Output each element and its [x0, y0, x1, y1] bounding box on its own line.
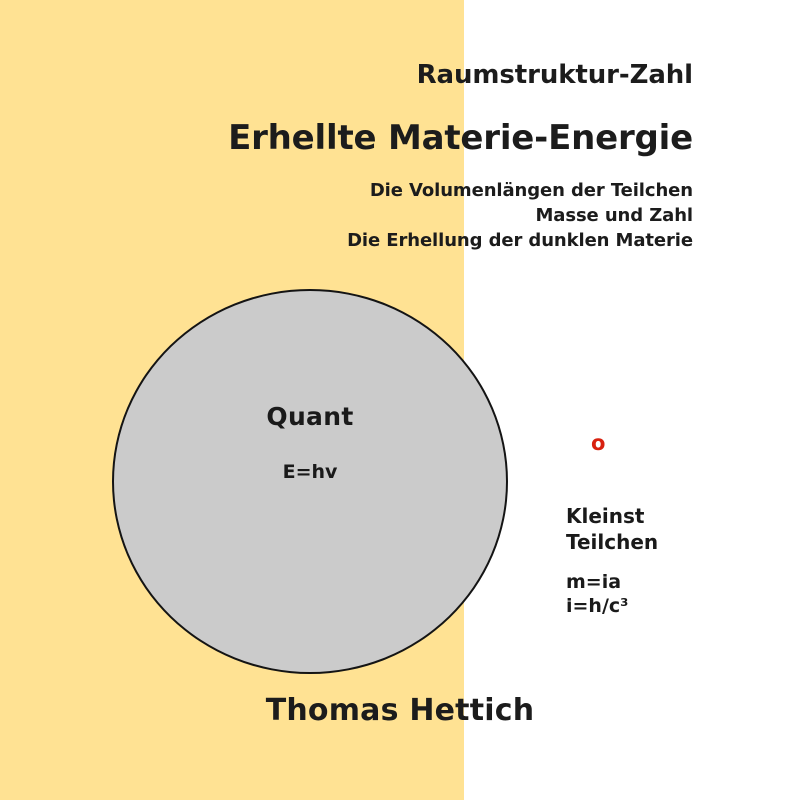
cover-title: Erhellte Materie-Energie [228, 118, 693, 158]
smallest-particle-label-line: Kleinst [566, 503, 658, 529]
cover-subtitle-line: Masse und Zahl [347, 203, 693, 228]
author-name: Thomas Hettich [0, 693, 800, 728]
smallest-particle-marker: o [591, 433, 605, 454]
smallest-particle-formula-line: i=h/c³ [566, 594, 628, 618]
cover-subtitle-line: Die Volumenlängen der Teilchen [347, 178, 693, 203]
book-cover: Quant E=hv Raumstruktur-Zahl Erhellte Ma… [0, 0, 800, 800]
smallest-particle-formula-block: m=ia i=h/c³ [566, 570, 628, 618]
smallest-particle-formula-line: m=ia [566, 570, 628, 594]
cover-subtitle-line: Die Erhellung der dunklen Materie [347, 228, 693, 253]
quant-label: Quant [112, 402, 508, 431]
smallest-particle-label-block: Kleinst Teilchen [566, 503, 658, 555]
cover-kicker: Raumstruktur-Zahl [417, 60, 693, 90]
cover-subtitle-block: Die Volumenlängen der Teilchen Masse und… [347, 178, 693, 253]
quant-energy-formula: E=hv [112, 461, 508, 483]
smallest-particle-label-line: Teilchen [566, 529, 658, 555]
